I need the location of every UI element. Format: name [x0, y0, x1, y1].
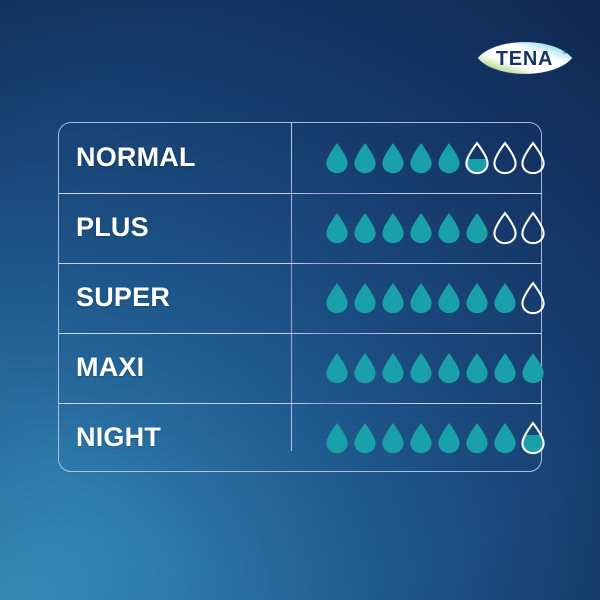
table-row[interactable]: SUPER — [59, 263, 541, 333]
droplet-icon-filled — [352, 282, 378, 315]
droplet-icon-filled — [408, 282, 434, 315]
droplet-icon-filled — [464, 282, 490, 315]
droplet-icon-filled — [492, 282, 518, 315]
droplet-icon-filled — [436, 212, 462, 245]
droplet-icon-empty — [520, 212, 546, 245]
droplet-icon-filled — [436, 352, 462, 385]
droplet-icon-filled — [380, 352, 406, 385]
droplet-rating-plus — [324, 212, 546, 245]
row-label-plus: PLUS — [76, 214, 149, 241]
droplet-icon-filled — [492, 352, 518, 385]
droplet-icon-filled — [380, 212, 406, 245]
droplet-icon-filled — [352, 142, 378, 175]
droplet-icon-filled — [324, 282, 350, 315]
droplet-rating-maxi — [324, 352, 546, 385]
absorbency-table: NORMAL PLUS — [58, 122, 542, 472]
droplet-icon-filled — [380, 282, 406, 315]
tena-logo-trademark: ® — [563, 48, 568, 56]
row-label-normal: NORMAL — [76, 144, 196, 171]
droplet-icon-empty — [520, 282, 546, 315]
tena-logo-text: TENA — [496, 48, 553, 70]
droplet-icon-filled — [380, 422, 406, 455]
droplet-icon-filled — [352, 352, 378, 385]
droplet-icon-filled — [520, 352, 546, 385]
droplet-icon-filled — [352, 212, 378, 245]
droplet-icon-filled — [380, 142, 406, 175]
droplet-icon-filled — [324, 352, 350, 385]
droplet-icon-filled — [464, 212, 490, 245]
droplet-icon-filled — [436, 142, 462, 175]
absorbency-chart-canvas: TENA ® NORMAL PL — [0, 0, 600, 600]
droplet-rating-normal — [324, 142, 546, 175]
droplet-icon-filled — [408, 142, 434, 175]
droplet-rating-night — [324, 422, 546, 455]
droplet-icon-filled — [464, 352, 490, 385]
droplet-icon-filled — [324, 422, 350, 455]
droplet-icon-filled — [324, 142, 350, 175]
row-label-maxi: MAXI — [76, 354, 144, 381]
table-row[interactable]: NORMAL — [59, 123, 541, 193]
droplet-icon-filled — [408, 212, 434, 245]
droplet-icon-filled — [492, 422, 518, 455]
table-row[interactable]: NIGHT — [59, 403, 541, 473]
droplet-icon-empty — [492, 212, 518, 245]
droplet-icon-filled — [408, 422, 434, 455]
droplet-icon-partial — [464, 142, 490, 175]
row-label-night: NIGHT — [76, 424, 161, 451]
table-row[interactable]: PLUS — [59, 193, 541, 263]
droplet-icon-filled — [464, 422, 490, 455]
row-label-super: SUPER — [76, 284, 170, 311]
droplet-icon-empty — [492, 142, 518, 175]
droplet-icon-empty — [520, 142, 546, 175]
table-row[interactable]: MAXI — [59, 333, 541, 403]
droplet-rating-super — [324, 282, 546, 315]
droplet-icon-filled — [324, 212, 350, 245]
tena-logo: TENA ® — [476, 34, 574, 82]
droplet-icon-filled — [352, 422, 378, 455]
droplet-icon-filled — [408, 352, 434, 385]
droplet-icon-partial — [520, 422, 546, 455]
droplet-icon-filled — [436, 422, 462, 455]
droplet-icon-filled — [436, 282, 462, 315]
